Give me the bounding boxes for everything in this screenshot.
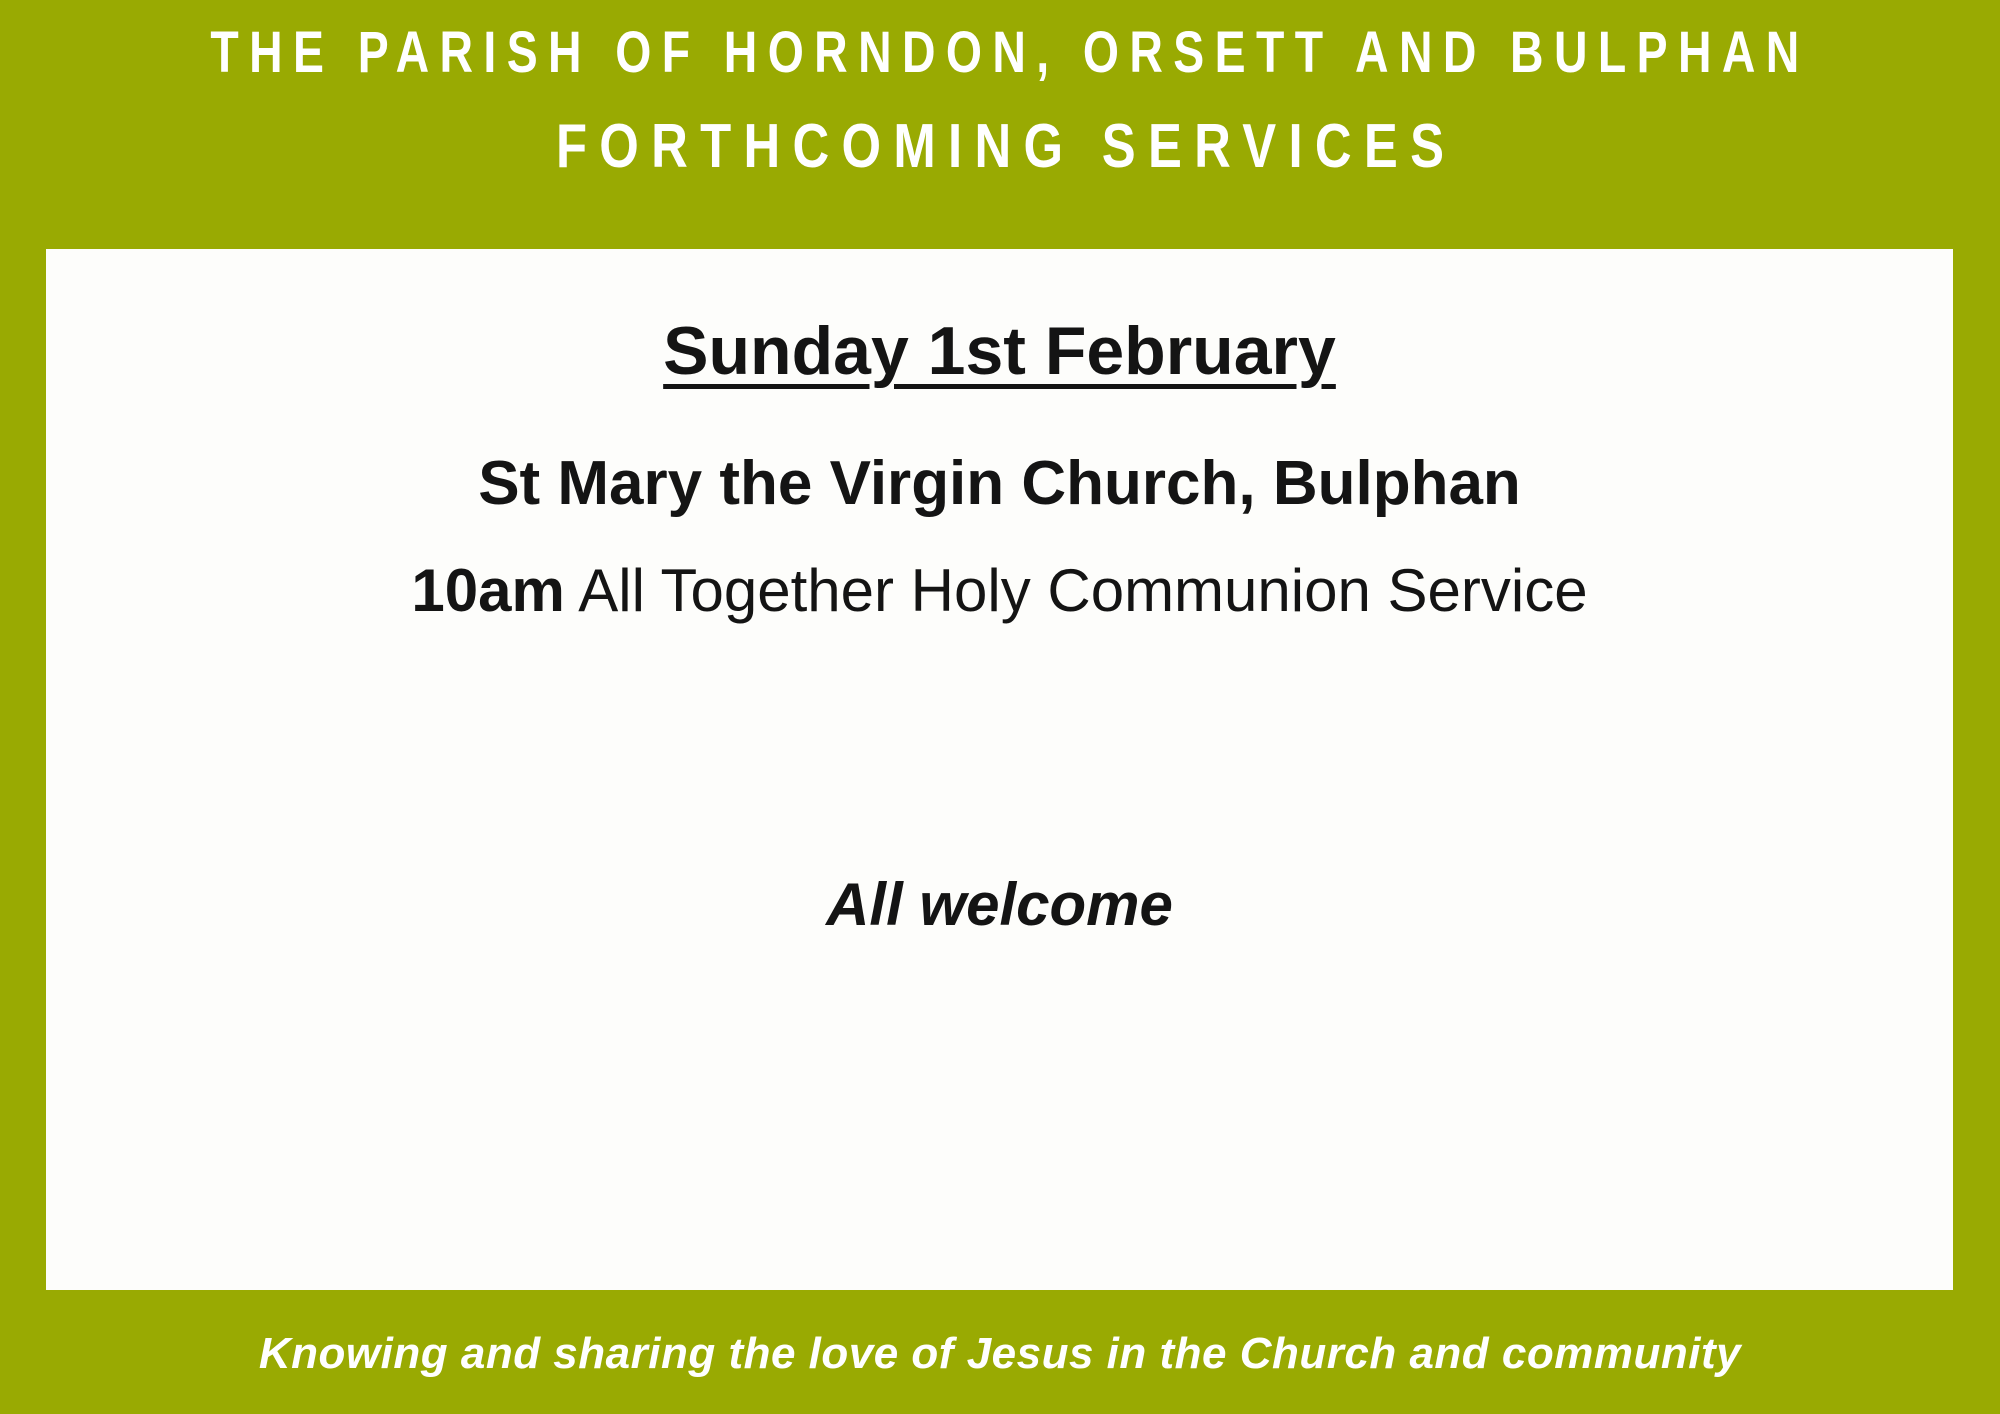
service-description: All Together Holy Communion Service xyxy=(565,557,1588,624)
service-date-text: Sunday 1st February xyxy=(663,313,1336,389)
service-details: 10am All Together Holy Communion Service xyxy=(46,555,1953,627)
all-welcome-text: All welcome xyxy=(46,869,1953,941)
service-time: 10am xyxy=(411,557,564,624)
service-poster: THE PARISH OF HORNDON, ORSETT AND BULPHA… xyxy=(0,0,2000,1414)
church-name: St Mary the Virgin Church, Bulphan xyxy=(46,447,1953,521)
content-panel-inner: Sunday 1st February St Mary the Virgin C… xyxy=(46,249,1953,1290)
poster-footer: Knowing and sharing the love of Jesus in… xyxy=(0,1290,2000,1414)
poster-header: THE PARISH OF HORNDON, ORSETT AND BULPHA… xyxy=(0,0,2000,249)
poster-title: FORTHCOMING SERVICES xyxy=(180,114,1820,180)
parish-name-heading: THE PARISH OF HORNDON, ORSETT AND BULPHA… xyxy=(200,22,1800,84)
parish-tagline: Knowing and sharing the love of Jesus in… xyxy=(0,1328,2000,1380)
service-date-heading: Sunday 1st February xyxy=(46,311,1953,391)
content-panel: Sunday 1st February St Mary the Virgin C… xyxy=(46,249,1953,1290)
